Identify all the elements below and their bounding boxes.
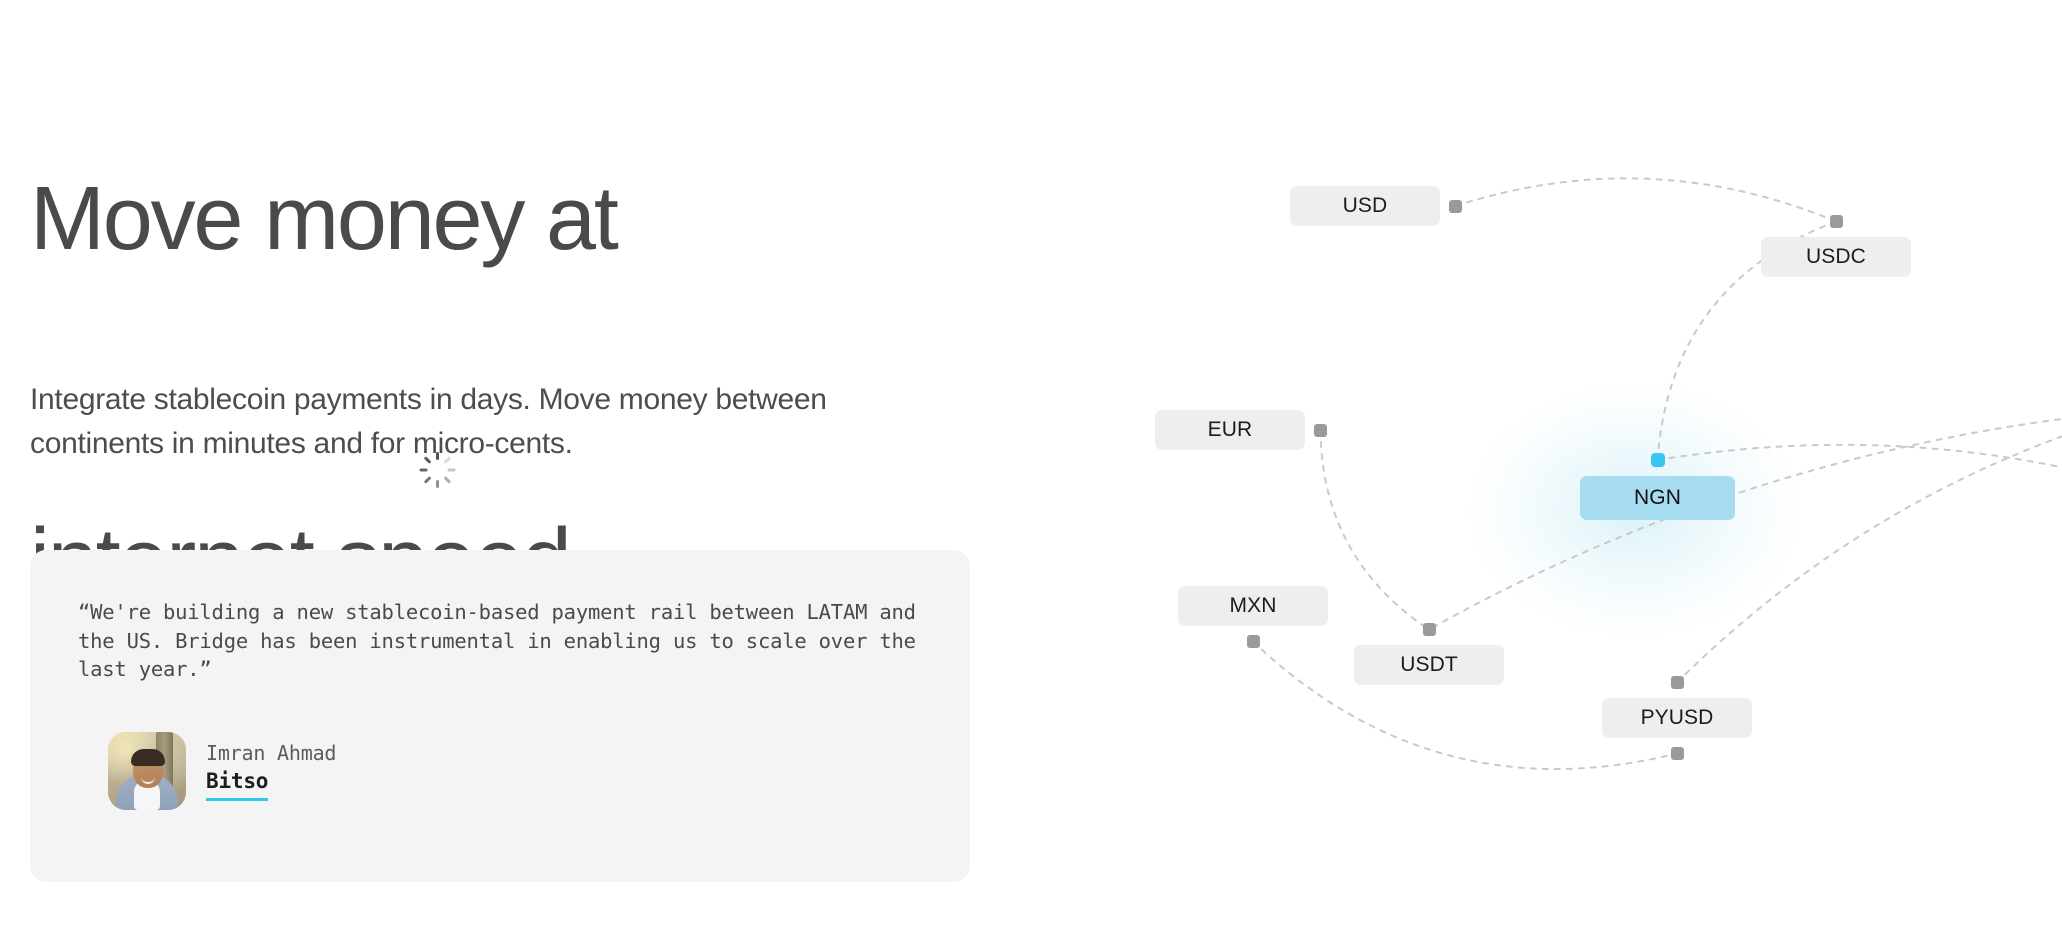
hero-subheading: Integrate stablecoin payments in days. M… [30,378,830,466]
testimonial-card: “We're building a new stablecoin-based p… [30,550,970,882]
currency-network-diagram: USDUSDCEURUSDNGNEURMXNUSDTPYUSD [1100,0,2062,940]
node-handle-usdt-top[interactable] [1423,623,1436,636]
edge-usd-top-to-usdc [1456,178,1837,221]
node-handle-ngn-top[interactable] [1651,453,1665,467]
attribution-text: Imran Ahmad Bitso [206,741,336,801]
edge-eur-left-to-usdt [1321,430,1430,630]
testimonial-attribution: Imran Ahmad Bitso [108,732,336,810]
author-company-link[interactable]: Bitso [206,769,268,801]
node-handle-mxn-bottom[interactable] [1247,635,1260,648]
hero-left-column: Move money at internet speed Integrate s… [30,0,990,940]
node-handle-usdc-top[interactable] [1830,215,1843,228]
node-handle-usd-right[interactable] [1449,200,1462,213]
author-company: Bitso [206,769,268,793]
node-handle-pyusd-bottom[interactable] [1671,747,1684,760]
currency-node-usdc[interactable]: USDC [1761,237,1911,277]
diagram-edges [1100,0,2062,940]
edge-usd-right-to-usdt [1429,410,2062,630]
currency-node-mxn[interactable]: MXN [1178,586,1328,626]
currency-node-eur[interactable]: EUR [1155,410,1305,450]
node-handle-pyusd-top[interactable] [1671,676,1684,689]
currency-node-pyusd[interactable]: PYUSD [1602,698,1752,738]
edge-pyusd-to-usd-right [1677,410,2062,683]
currency-node-usdt[interactable]: USDT [1354,645,1504,685]
hero-page: Move money at internet speed Integrate s… [0,0,2062,940]
currency-node-usd[interactable]: USD [1290,186,1440,226]
headline-line-1: Move money at [30,162,970,276]
author-name: Imran Ahmad [206,741,336,765]
node-handle-eur-right[interactable] [1314,424,1327,437]
company-underline [206,798,268,801]
testimonial-quote: “We're building a new stablecoin-based p… [78,598,928,684]
currency-node-ngn[interactable]: NGN [1580,476,1735,520]
avatar [108,732,186,810]
